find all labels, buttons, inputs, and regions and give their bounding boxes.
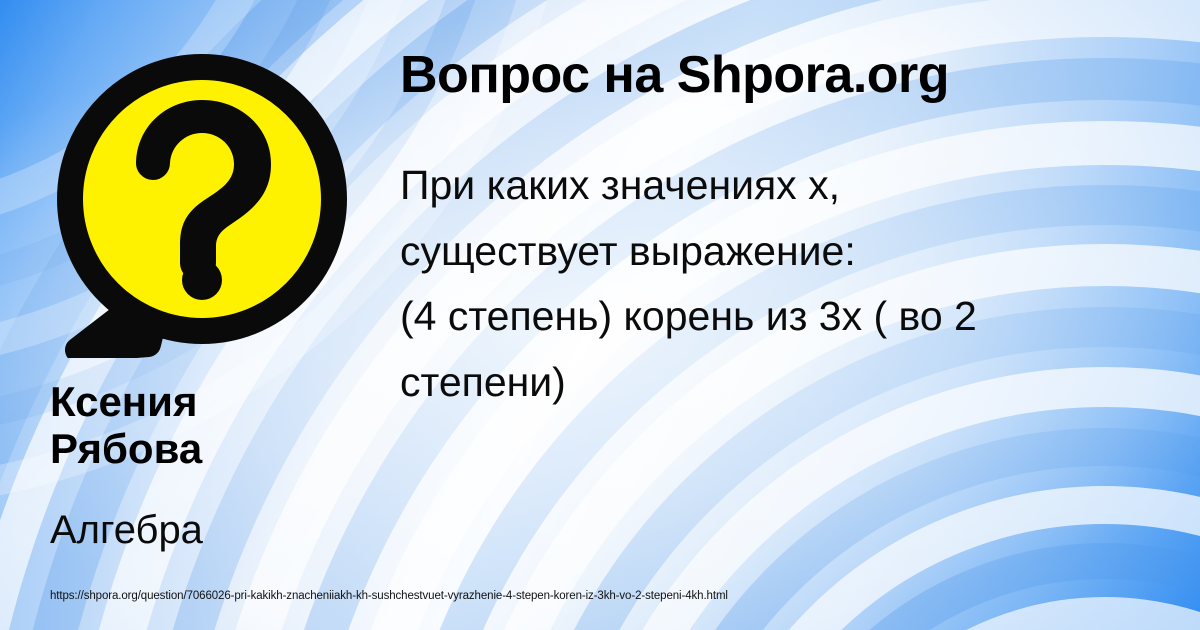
question-speech-bubble-icon xyxy=(52,48,352,358)
author-first-name: Ксения xyxy=(50,378,380,425)
question-line: (4 степень) корень из 3х ( во 2 xyxy=(400,284,1170,350)
subject-label: Алгебра xyxy=(50,508,380,552)
author-name: Ксения Рябова xyxy=(50,378,380,472)
source-url[interactable]: https://shpora.org/question/7066026-pri-… xyxy=(50,590,728,602)
question-text: При каких значениях х, существует выраже… xyxy=(400,153,1170,415)
question-line: существует выражение: xyxy=(400,219,1170,285)
author-last-name: Рябова xyxy=(50,425,380,472)
question-line: степени) xyxy=(400,350,1170,416)
question-share-card: Вопрос на Shpora.org При каких значениях… xyxy=(0,0,1200,630)
page-title: Вопрос на Shpora.org xyxy=(400,46,1180,104)
question-line: При каких значениях х, xyxy=(400,153,1170,219)
